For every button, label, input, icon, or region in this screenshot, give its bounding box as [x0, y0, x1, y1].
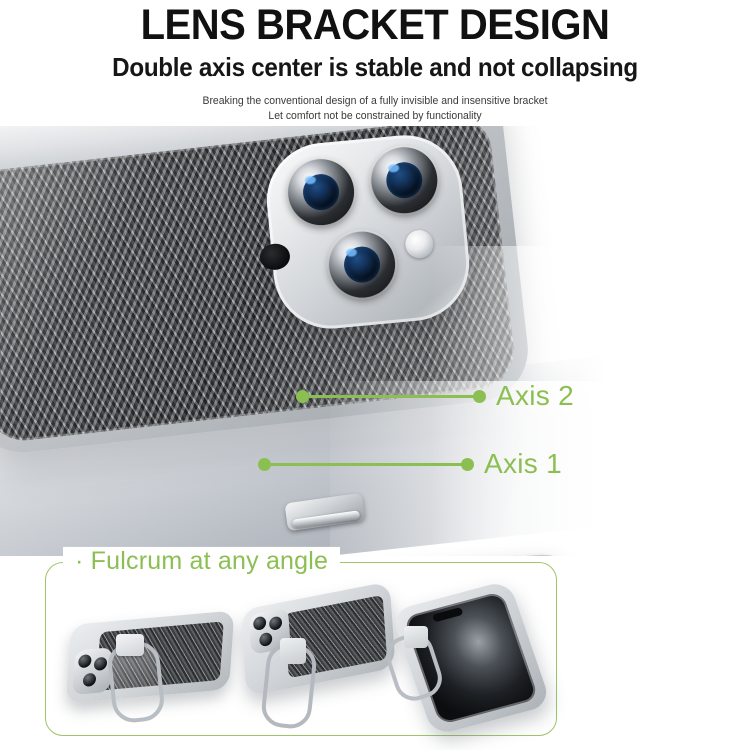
brand-badge — [280, 638, 306, 664]
camera-lens-1 — [285, 156, 357, 228]
tagline: Breaking the conventional design of a fu… — [19, 94, 732, 124]
fulcrum-panel-title: · Fulcrum at any angle — [63, 547, 340, 576]
callout-label-axis-1: Axis 1 — [484, 448, 562, 480]
brand-badge — [404, 626, 428, 648]
header: LENS BRACKET DESIGN Double axis center i… — [0, 0, 750, 124]
callout-leader-line — [306, 395, 476, 398]
callout-end-dot — [461, 458, 474, 471]
camera-module — [72, 647, 113, 695]
callout-leader-line — [268, 463, 464, 466]
page-title: LENS BRACKET DESIGN — [26, 4, 724, 47]
tagline-line-2: Let comfort not be constrained by functi… — [19, 109, 732, 124]
camera-lens-3 — [326, 229, 398, 301]
product-shot-front-screen — [396, 586, 546, 726]
callout-axis-1: Axis 1 — [258, 448, 562, 480]
callout-end-dot — [473, 390, 486, 403]
product-shot-landscape-stand — [62, 612, 240, 722]
callout-axis-2: Axis 2 — [296, 380, 574, 412]
tagline-line-1: Breaking the conventional design of a fu… — [19, 94, 732, 109]
page-subtitle: Double axis center is stable and not col… — [26, 54, 724, 81]
callout-label-axis-2: Axis 2 — [496, 380, 574, 412]
product-marketing-image: LENS BRACKET DESIGN Double axis center i… — [0, 0, 750, 750]
product-shot-tilted-stand — [238, 592, 404, 724]
brand-badge — [116, 634, 144, 656]
camera-lens-2 — [368, 144, 440, 216]
hero-product-scene — [0, 126, 750, 556]
